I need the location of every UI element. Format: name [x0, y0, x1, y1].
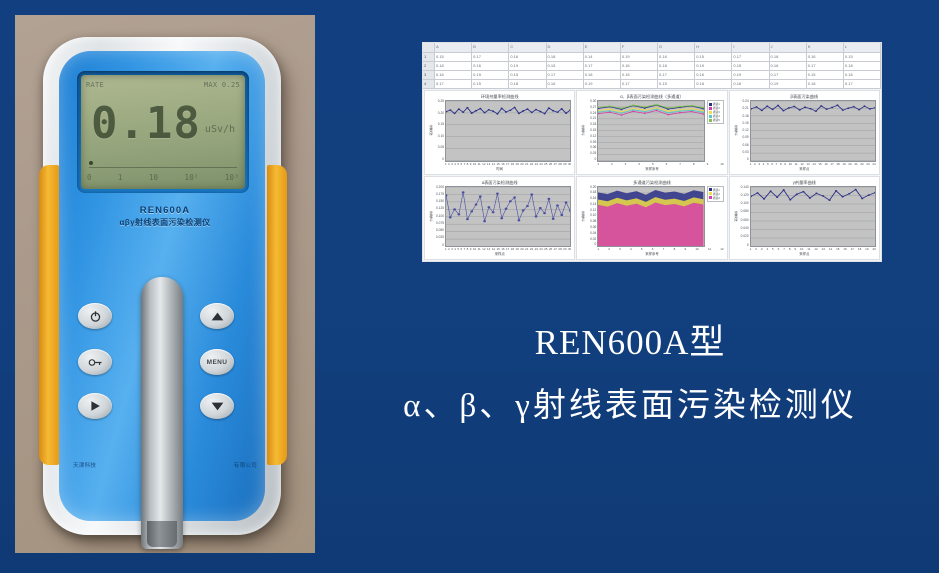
spreadsheet-row: 10.150.170.160.180.140.190.160.150.170.1…	[423, 53, 881, 62]
chart-data-point	[483, 220, 486, 222]
chart-series-line	[598, 109, 703, 113]
spreadsheet-cell[interactable]: 0.16	[472, 62, 509, 70]
chart-data-point	[598, 113, 599, 115]
chart-data-point	[522, 209, 525, 211]
chart-data-point	[809, 108, 811, 110]
chart-data-point	[668, 107, 670, 109]
spreadsheet-cell[interactable]: 0.19	[621, 53, 658, 61]
up-key[interactable]	[200, 303, 234, 329]
chart-data-point	[668, 112, 670, 114]
chart-svg	[598, 187, 703, 247]
chart-data-point	[479, 195, 482, 197]
chart-y-tick: 0.080	[741, 210, 749, 213]
chart-legend-swatch	[709, 188, 712, 191]
chart-y-tick: 0.020	[741, 235, 749, 238]
chart-data-point	[556, 111, 558, 113]
device-printed-label: REN600A αβγ射线表面污染检测仪	[15, 205, 315, 229]
chart-legend-swatch	[709, 107, 712, 110]
chart-data-point	[679, 110, 681, 112]
chart-data-point	[505, 207, 508, 209]
product-photo: RATE MAX 0.25 0.18 uSv/h 011010²10³ REN6…	[15, 15, 315, 553]
spreadsheet-cell[interactable]: 0.18	[844, 62, 881, 70]
chart-data-point	[492, 211, 495, 213]
chart-y-tick: 0.12	[742, 129, 748, 132]
spreadsheet-column-header[interactable]: K	[807, 43, 844, 52]
chart-data-point	[475, 203, 478, 205]
chart-data-point	[531, 112, 533, 114]
spreadsheet-cell[interactable]: 0.17	[770, 71, 807, 79]
spreadsheet-cell[interactable]: 0.19	[770, 80, 807, 88]
chart-y-tick: 0.12	[590, 135, 596, 138]
chart-y-axis-label: 计数率	[733, 100, 739, 162]
lcd-status-bar: RATE MAX 0.25	[86, 78, 240, 91]
spreadsheet-column-header[interactable]: F	[621, 43, 658, 52]
chart-y-tick: 0.050	[436, 229, 444, 232]
lcd-reading: 0.18 uSv/h	[81, 95, 245, 153]
chart-y-axis-label: 计数率	[580, 186, 586, 248]
chart-data-point	[539, 111, 541, 113]
chart-data-point	[828, 199, 830, 201]
chart-y-tick: 0.25	[438, 100, 444, 103]
chart-y-axis-label: 剂量率	[733, 186, 739, 248]
spreadsheet-cell[interactable]: 0.18	[807, 80, 844, 88]
chart-series-line	[751, 105, 875, 111]
chart-data-point	[858, 109, 860, 111]
spreadsheet-cell[interactable]: 0.17	[658, 71, 695, 79]
spreadsheet-row-header[interactable]: 3	[423, 71, 435, 79]
lcd-value: 0.18	[91, 102, 201, 146]
lcd-scale-tick: 10²	[184, 173, 198, 182]
chart-data-point	[548, 197, 551, 199]
spreadsheet-column-header[interactable]: I	[732, 43, 769, 52]
spreadsheet-column-header[interactable]: J	[770, 43, 807, 52]
chart-data-point	[703, 113, 704, 115]
chart-data-point	[621, 107, 623, 109]
chart-y-tick: 0.24	[742, 100, 748, 103]
spreadsheet-cell[interactable]: 0.18	[695, 80, 732, 88]
chart-data-point	[869, 108, 871, 110]
chart-data-point	[449, 109, 451, 111]
chart-data-point	[466, 107, 468, 109]
chart-y-tick: 0.14	[590, 203, 596, 206]
chart-y-tick: 0.09	[590, 141, 596, 144]
chart-panel: β表面污染曲线计数率0.240.210.180.150.120.090.060.…	[729, 90, 880, 175]
chart-data-point	[509, 200, 512, 202]
chart-y-tick: 0.060	[741, 219, 749, 222]
lcd-bezel: RATE MAX 0.25 0.18 uSv/h 011010²10³	[77, 71, 249, 193]
spreadsheet-cell[interactable]: 0.16	[658, 53, 695, 61]
chart-data-point	[470, 210, 473, 212]
spreadsheet-column-header[interactable]: A	[435, 43, 472, 52]
chart-y-tick: 0.21	[742, 107, 748, 110]
chart-data-point	[804, 106, 806, 108]
chart-y-tick: 0.150	[436, 200, 444, 203]
key-icon	[88, 357, 103, 368]
chart-data-point	[500, 217, 503, 219]
chart-data-point	[449, 216, 452, 218]
play-icon	[89, 400, 101, 412]
chart-data-point	[565, 112, 567, 114]
caption-line-2: α、β、γ射线表面污染检测仪	[330, 380, 930, 432]
chart-data-point	[854, 188, 856, 190]
spreadsheet-cell[interactable]: 0.19	[695, 62, 732, 70]
chart-data-point	[544, 113, 546, 115]
chart-body: 计数率0.240.210.180.150.120.090.060.030	[733, 100, 876, 162]
device-handle	[141, 277, 183, 549]
chart-data-point	[458, 108, 460, 110]
chart-data-point	[509, 109, 511, 111]
chart-data-point	[808, 197, 810, 199]
caption-block: REN600A型 α、β、γ射线表面污染检测仪	[330, 320, 930, 432]
lcd-unit: uSv/h	[205, 124, 235, 135]
chart-data-point	[679, 112, 681, 114]
spreadsheet-column-header[interactable]: H	[695, 43, 732, 52]
spreadsheet-column-header[interactable]	[423, 43, 435, 52]
chart-x-axis-label: 采样点	[733, 167, 876, 172]
power-icon	[89, 310, 102, 323]
lcd-status-left: RATE	[86, 81, 104, 89]
chart-plot-area	[445, 186, 571, 248]
chart-data-point	[644, 112, 646, 114]
chart-data-point	[668, 114, 670, 116]
chart-y-tick: 0.040	[741, 227, 749, 230]
chart-data-point	[776, 196, 778, 198]
chart-data-point	[814, 110, 816, 112]
chart-data-point	[462, 111, 464, 113]
spreadsheet-cell[interactable]: 0.17	[844, 80, 881, 88]
lcd-scale: 011010²10³	[87, 170, 239, 184]
chart-data-point	[514, 107, 516, 109]
chart-svg	[446, 187, 570, 247]
chart-data-point	[496, 192, 499, 194]
chart-data-point	[787, 107, 789, 109]
chart-area	[598, 202, 703, 246]
chart-data-point	[453, 208, 456, 210]
chart-data-point	[782, 110, 784, 112]
chart-y-tick: 0.02	[590, 238, 596, 241]
spreadsheet-cell[interactable]: 0.16	[695, 71, 732, 79]
spreadsheet-cell[interactable]: 0.18	[658, 62, 695, 70]
chart-y-tick: 0.20	[438, 112, 444, 115]
chart-y-ticks: 0.2000.1750.1500.1250.1000.0750.0500.025…	[434, 186, 445, 248]
chart-grid: 环境剂量率检测曲线剂量率0.250.200.150.100.0501234567…	[423, 89, 881, 261]
chart-x-axis-label: 采样序号	[580, 167, 723, 172]
chart-y-ticks: 0.240.210.180.150.120.090.060.030	[739, 100, 750, 162]
triangle-up-icon	[211, 311, 224, 322]
lcd-scale-tick: 0	[87, 173, 92, 182]
spreadsheet-cell[interactable]: 0.16	[732, 80, 769, 88]
chart-y-tick: 0.18	[590, 191, 596, 194]
caption-line-1: REN600A型	[330, 320, 930, 366]
chart-data-point	[760, 110, 762, 112]
menu-key[interactable]: MENU	[200, 349, 234, 375]
chart-panel: α表面污染检测曲线计数率0.2000.1750.1500.1250.1000.0…	[424, 176, 575, 261]
chart-x-axis-label: 采样点	[733, 252, 876, 257]
chart-data-point	[691, 109, 693, 111]
chart-data-point	[462, 191, 465, 193]
spreadsheet-cell[interactable]: 0.14	[584, 53, 621, 61]
chart-y-tick: 0.140	[741, 186, 749, 189]
chart-data-point	[644, 106, 646, 108]
chart-data-point	[756, 192, 758, 194]
power-key[interactable]	[78, 303, 112, 329]
spreadsheet-cell[interactable]: 0.15	[435, 53, 472, 61]
chart-y-tick: 0.06	[742, 144, 748, 147]
chart-legend-swatch	[709, 192, 712, 195]
chart-panel: α、β表面污染检测曲线（多通道）计数率0.300.270.240.210.180…	[576, 90, 727, 175]
chart-data-point	[656, 104, 658, 106]
spreadsheet-cell[interactable]: 0.16	[844, 71, 881, 79]
lcd-screen: RATE MAX 0.25 0.18 uSv/h 011010²10³	[81, 75, 245, 189]
chart-data-point	[825, 108, 827, 110]
spreadsheet-cell[interactable]: 0.16	[509, 53, 546, 61]
chart-legend-item[interactable]: 通道3	[709, 196, 722, 200]
chart-panel: 多通道污染检测曲线计数率0.200.180.160.140.120.100.08…	[576, 176, 727, 261]
chart-data-point	[513, 196, 516, 198]
chart-data-point	[598, 110, 599, 112]
chart-y-tick: 0.16	[590, 197, 596, 200]
chart-data-point	[496, 113, 498, 115]
chart-data-point	[820, 105, 822, 107]
chart-data-point	[633, 104, 635, 106]
chart-y-tick: 0.15	[590, 129, 596, 132]
spreadsheet-cell[interactable]: 0.15	[732, 62, 769, 70]
spreadsheet-cell[interactable]: 0.15	[621, 71, 658, 79]
lcd-scale-tick: 1	[118, 173, 123, 182]
chart-data-point	[841, 195, 843, 197]
slide-background: RATE MAX 0.25 0.18 uSv/h 011010²10³ REN6…	[0, 0, 939, 573]
chart-data-point	[488, 109, 490, 111]
device-bottom-cap	[147, 521, 177, 547]
spreadsheet-cell[interactable]: 0.16	[435, 71, 472, 79]
chart-data-point	[852, 106, 854, 108]
spreadsheet-cell[interactable]: 0.16	[770, 62, 807, 70]
chart-data-point	[847, 107, 849, 109]
spreadsheet-cell[interactable]: 0.17	[584, 62, 621, 70]
footer-right-text: 有限公司	[234, 461, 257, 469]
chart-y-tick: 0.15	[438, 123, 444, 126]
chart-data-point	[530, 193, 533, 195]
chart-legend: 通道1通道2通道3	[707, 186, 724, 202]
chart-data-point	[479, 108, 481, 110]
chart-data-point	[569, 209, 570, 211]
chart-data-point	[822, 195, 824, 197]
chart-y-tick: 0.27	[590, 106, 596, 109]
chart-y-tick: 0.24	[590, 112, 596, 115]
chart-y-tick: 0.06	[590, 226, 596, 229]
chart-data-point	[609, 105, 611, 107]
spreadsheet-column-header[interactable]: D	[547, 43, 584, 52]
chart-body: 剂量率0.250.200.150.100.050	[428, 100, 571, 162]
chart-data-point	[484, 112, 486, 114]
spreadsheet-cell[interactable]: 0.15	[472, 80, 509, 88]
software-screenshot: ABCDEFGHIJKL10.150.170.160.180.140.190.1…	[422, 42, 882, 262]
chart-y-tick: 0.10	[590, 214, 596, 217]
device-description-label: αβγ射线表面污染检测仪	[15, 217, 315, 229]
chart-data-point	[691, 105, 693, 107]
chart-y-tick: 0.18	[590, 123, 596, 126]
chart-data-point	[505, 111, 507, 113]
chart-y-tick: 0.200	[436, 186, 444, 189]
spreadsheet-column-header[interactable]: C	[509, 43, 546, 52]
spreadsheet-cell[interactable]: 0.19	[509, 62, 546, 70]
chart-data-point	[835, 189, 837, 191]
chart-data-point	[763, 198, 765, 200]
chart-y-tick: 0.04	[590, 232, 596, 235]
lcd-scale-tick: 10³	[225, 173, 239, 182]
chart-data-point	[644, 111, 646, 113]
spreadsheet-cell[interactable]: 0.15	[844, 53, 881, 61]
spreadsheet-cell[interactable]: 0.18	[547, 53, 584, 61]
chart-y-ticks: 0.200.180.160.140.120.100.080.060.040.02…	[586, 186, 597, 248]
spreadsheet-cell[interactable]: 0.19	[472, 71, 509, 79]
spreadsheet-cell[interactable]: 0.17	[547, 71, 584, 79]
chart-data-point	[518, 113, 520, 115]
spreadsheet-cell[interactable]: 0.18	[509, 80, 546, 88]
lcd-scale-tick: 10	[149, 173, 158, 182]
chart-y-tick: 0.15	[742, 122, 748, 125]
spreadsheet-row: 20.180.160.190.150.170.160.180.190.150.1…	[423, 62, 881, 71]
chart-data-point	[492, 110, 494, 112]
spreadsheet-cell[interactable]: 0.17	[807, 62, 844, 70]
chart-plot-area	[750, 100, 876, 162]
spreadsheet-cell[interactable]: 0.15	[509, 71, 546, 79]
down-key[interactable]	[200, 393, 234, 419]
chart-svg	[446, 101, 570, 161]
chart-data-point	[621, 112, 623, 114]
spreadsheet-column-header[interactable]: E	[584, 43, 621, 52]
spreadsheet-column-header[interactable]: B	[472, 43, 509, 52]
chart-data-point	[789, 198, 791, 200]
chart-data-point	[535, 109, 537, 111]
chart-y-tick: 0.12	[590, 209, 596, 212]
chart-y-tick: 0.10	[438, 135, 444, 138]
search-key[interactable]	[78, 349, 112, 375]
chart-y-tick: 0.075	[436, 222, 444, 225]
spreadsheet-cell[interactable]: 0.16	[547, 80, 584, 88]
chart-y-tick: 0.120	[741, 194, 749, 197]
chart-data-point	[501, 108, 503, 110]
footer-left-text: 天津科技	[73, 461, 96, 469]
chart-y-tick: 0.30	[590, 100, 596, 103]
triangle-down-icon	[211, 401, 224, 412]
spreadsheet-cell[interactable]: 0.15	[658, 80, 695, 88]
chart-data-point	[535, 215, 538, 217]
spreadsheet-cell[interactable]: 0.17	[435, 80, 472, 88]
chart-data-point	[552, 217, 555, 219]
spreadsheet-row-header[interactable]: 1	[423, 53, 435, 61]
chart-data-point	[769, 190, 771, 192]
chart-data-point	[526, 204, 529, 206]
chart-panel: γ剂量率曲线剂量率0.1400.1200.1000.0800.0600.0400…	[729, 176, 880, 261]
chart-data-point	[831, 107, 833, 109]
chart-y-tick: 0.08	[590, 220, 596, 223]
spreadsheet-cell[interactable]: 0.18	[584, 71, 621, 79]
chart-y-tick: 0.03	[742, 151, 748, 154]
chart-data-point	[466, 218, 469, 220]
spreadsheet-cell[interactable]: 0.18	[435, 62, 472, 70]
spreadsheet-row-header[interactable]: 2	[423, 62, 435, 70]
chart-data-point	[802, 190, 804, 192]
spreadsheet-cell[interactable]: 0.16	[621, 62, 658, 70]
chart-y-tick: 0.21	[590, 117, 596, 120]
chart-data-point	[777, 105, 779, 107]
chart-body: 计数率0.2000.1750.1500.1250.1000.0750.0500.…	[428, 186, 571, 248]
device-footer-text: 天津科技 有限公司	[15, 461, 315, 469]
chart-data-point	[598, 107, 599, 109]
chart-data-point	[454, 113, 456, 115]
chart-data-point	[644, 109, 646, 111]
spreadsheet-column-header[interactable]: L	[844, 43, 881, 52]
menu-text-icon: MENU	[207, 359, 228, 366]
spreadsheet-row: 40.170.150.180.160.190.170.150.180.160.1…	[423, 80, 881, 89]
chart-data-point	[815, 192, 817, 194]
spreadsheet-cell[interactable]: 0.15	[807, 71, 844, 79]
spreadsheet-cell[interactable]: 0.15	[695, 53, 732, 61]
spreadsheet-cell[interactable]: 0.19	[732, 71, 769, 79]
chart-y-axis-label: 剂量率	[428, 100, 434, 162]
spreadsheet-header-row: ABCDEFGHIJKL	[423, 43, 881, 53]
spreadsheet-cell[interactable]: 0.19	[584, 80, 621, 88]
chart-legend-label: 通道5	[713, 118, 720, 122]
chart-plot-area	[597, 100, 704, 162]
chart-data-point	[836, 104, 838, 106]
chart-data-point	[488, 206, 491, 208]
chart-x-axis-label: 采样点	[428, 252, 571, 257]
chart-x-axis-label: 采样序号	[580, 252, 723, 257]
spreadsheet-cell[interactable]: 0.17	[472, 53, 509, 61]
chart-data-point	[548, 107, 550, 109]
chart-x-axis-label: 时间	[428, 167, 571, 172]
chart-plot-area	[597, 186, 704, 248]
chart-data-point	[656, 108, 658, 110]
chart-plot-area	[750, 186, 876, 248]
chart-data-point	[771, 109, 773, 111]
chart-data-point	[561, 108, 563, 110]
chart-data-point	[457, 213, 460, 215]
chart-legend-swatch	[709, 103, 712, 106]
chart-data-point	[633, 109, 635, 111]
chart-legend-label: 通道3	[713, 196, 720, 200]
chart-svg	[751, 101, 875, 161]
chart-data-point	[766, 105, 768, 107]
spreadsheet-row-header[interactable]: 4	[423, 80, 435, 88]
chart-y-tick: 0.175	[436, 193, 444, 196]
chart-panel: 环境剂量率检测曲线剂量率0.250.200.150.100.0501234567…	[424, 90, 575, 175]
spreadsheet-cell[interactable]: 0.18	[770, 53, 807, 61]
start-key[interactable]	[78, 393, 112, 419]
chart-data-point	[798, 109, 800, 111]
spreadsheet-column-header[interactable]: G	[658, 43, 695, 52]
chart-data-point	[793, 106, 795, 108]
chart-data-point	[552, 110, 554, 112]
chart-y-tick: 0.18	[742, 115, 748, 118]
chart-data-point	[556, 204, 559, 206]
spreadsheet-cell[interactable]: 0.16	[807, 53, 844, 61]
chart-y-ticks: 0.1400.1200.1000.0800.0600.0400.0200	[739, 186, 750, 248]
spreadsheet-row: 30.160.190.150.170.180.150.170.160.190.1…	[423, 71, 881, 80]
chart-legend-item[interactable]: 通道5	[709, 118, 722, 122]
chart-data-point	[526, 108, 528, 110]
chart-data-point	[848, 192, 850, 194]
chart-y-tick: 0.100	[741, 202, 749, 205]
spreadsheet-cell[interactable]: 0.17	[732, 53, 769, 61]
chart-legend: 通道1通道2通道3通道4通道5	[707, 100, 724, 124]
spreadsheet-cell[interactable]: 0.15	[547, 62, 584, 70]
spreadsheet-cell[interactable]: 0.17	[621, 80, 658, 88]
chart-y-tick: 0.06	[590, 146, 596, 149]
lcd-status-right: MAX 0.25	[204, 81, 240, 89]
